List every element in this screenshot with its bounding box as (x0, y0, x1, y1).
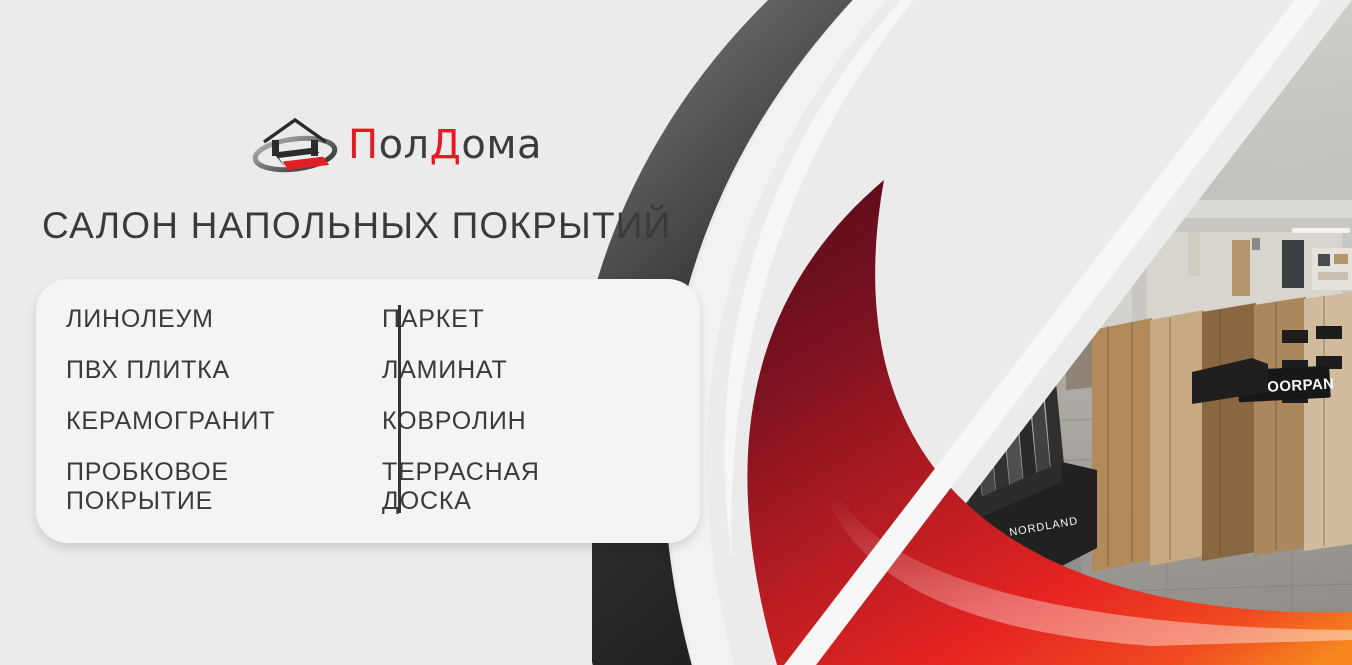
list-item[interactable]: ПВХ ПЛИТКА (66, 356, 334, 385)
catalog-column-left: ЛИНОЛЕУМ ПВХ ПЛИТКА КЕРАМОГРАНИТ ПРОБКОВ… (36, 305, 334, 543)
list-item[interactable]: ЛАМИНАТ (382, 356, 634, 385)
brand-name-part-1: П (348, 122, 379, 168)
list-item[interactable]: ЛИНОЛЕУМ (66, 305, 334, 334)
list-item[interactable]: ПАРКЕТ (382, 305, 634, 334)
list-item[interactable]: КЕРАМОГРАНИТ (66, 407, 334, 436)
brand-sign-camsan: Camsan (877, 353, 967, 387)
promo-banner: NORDLAND Camsan FLOORPAN (0, 0, 1352, 665)
list-item[interactable]: ПРОБКОВОЕ ПОКРЫТИЕ (66, 458, 334, 516)
brand-name: ПолДома (348, 125, 542, 165)
svg-text:Camsan: Camsan (892, 362, 947, 381)
column-divider (398, 305, 401, 513)
catalog-card: ЛИНОЛЕУМ ПВХ ПЛИТКА КЕРАМОГРАНИТ ПРОБКОВ… (36, 279, 700, 543)
smoke-detector-icon (908, 10, 942, 24)
brand-logo[interactable]: ПолДома (252, 114, 542, 176)
brand-name-part-2: ол (379, 122, 430, 168)
brand-name-part-3: Д (430, 122, 462, 168)
house-floor-logo-icon (252, 114, 338, 176)
list-item[interactable]: ТЕРРАСНАЯ ДОСКА (382, 458, 634, 516)
list-item[interactable]: КОВРОЛИН (382, 407, 634, 436)
page-title: САЛОН НАПОЛЬНЫХ ПОКРЫТИЙ (42, 205, 671, 247)
banner-artwork: NORDLAND Camsan FLOORPAN (592, 0, 1352, 665)
ceiling-light (974, 69, 1070, 97)
brand-name-part-4: ома (461, 122, 542, 168)
catalog-column-right: ПАРКЕТ ЛАМИНАТ КОВРОЛИН ТЕРРАСНАЯ ДОСКА (334, 305, 634, 543)
